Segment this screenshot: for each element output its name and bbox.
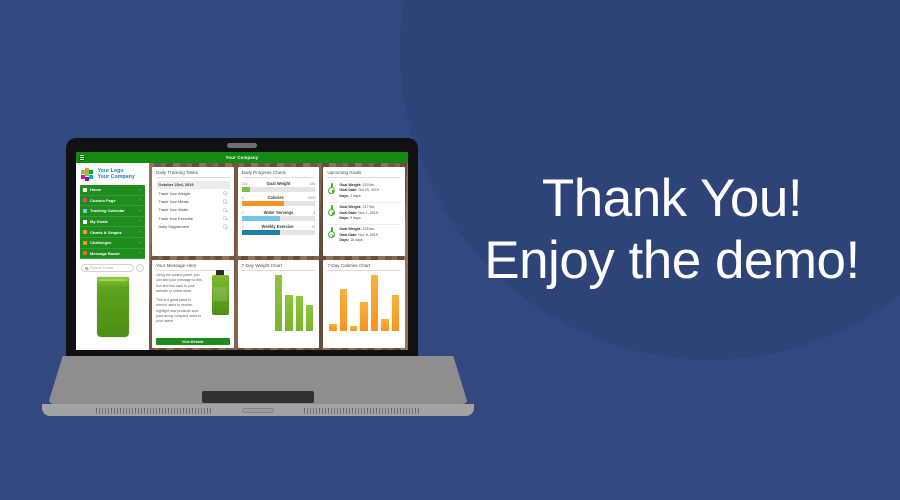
- view-website-button[interactable]: View Website: [156, 338, 230, 345]
- check-circle-icon[interactable]: [223, 216, 227, 220]
- check-circle-icon[interactable]: [223, 208, 227, 212]
- progress-label: Goal Weight: [267, 181, 291, 186]
- progress-fill: [242, 230, 280, 235]
- sidebar-item-charts-graphs[interactable]: Charts & Graphs›: [80, 227, 145, 238]
- card-upcoming-goals: Upcoming Goals Goal Weight: 219 lbs.Goal…: [323, 167, 405, 256]
- progress-max: 180: [310, 182, 316, 186]
- chart-bar: [392, 295, 399, 331]
- message-body: Using the control panel, you can add you…: [156, 273, 202, 325]
- sidebar-item-message-board[interactable]: Message Board›: [80, 249, 145, 260]
- task-label: Daily Supplement: [159, 224, 190, 229]
- sidebar-item-label: Challenges: [90, 240, 137, 245]
- hamburger-icon[interactable]: [79, 155, 85, 161]
- progress-fill: [242, 201, 285, 206]
- goal-weight-value: 219 lbs.: [362, 183, 375, 187]
- goal-days-label: Days:: [339, 216, 349, 220]
- chart-bar: [275, 275, 282, 331]
- calendar-icon: [83, 209, 87, 213]
- green-juice-bottle-image: [212, 275, 229, 315]
- laptop-lid: Your Company: [66, 138, 418, 358]
- card-7-day-weight-chart: 7-Day Weight Chart: [238, 260, 320, 349]
- progress-label: Weekly Exercise: [262, 224, 294, 229]
- logo-mark-icon: [81, 168, 95, 181]
- goal-date-value: Nov 8, 2019: [358, 233, 377, 237]
- dashboard-row-top: Daily Tracking Tasks October 23rd, 2019 …: [152, 167, 405, 256]
- tracking-task-item[interactable]: Track Your Weight: [156, 189, 230, 197]
- lid-release-notch: [242, 408, 274, 413]
- chart-bar: [371, 275, 378, 331]
- check-circle-icon[interactable]: [223, 191, 227, 195]
- card-your-message-here: Your Message Here Using the control pane…: [152, 260, 234, 349]
- progress-item: 224Goal Weight180: [242, 181, 316, 192]
- goal-date-label: Goal Date:: [339, 188, 357, 192]
- tracking-task-item[interactable]: Track Your Meals: [156, 197, 230, 205]
- chart-bar: [306, 305, 313, 331]
- sidebar-item-label: Tracking Calendar: [90, 208, 137, 213]
- task-label: Track Your Weight: [159, 191, 191, 196]
- keyboard: [70, 360, 446, 388]
- progress-max: 67: [312, 225, 316, 229]
- goal-weight-label: Goal Weight:: [339, 227, 361, 231]
- tracking-task-item[interactable]: Daily Supplement: [156, 222, 230, 230]
- promo-line-2: Enjoy the demo!: [452, 230, 892, 292]
- dashboard-content: Daily Tracking Tasks October 23rd, 2019 …: [149, 163, 408, 350]
- card-title: Upcoming Goals: [327, 170, 401, 178]
- progress-max: 8: [313, 211, 315, 215]
- sidebar-item-label: Message Board: [90, 251, 137, 256]
- card-title: Daily Progress Check: [242, 170, 316, 178]
- sidebar-item-label: Custom Page: [90, 198, 137, 203]
- company-logo[interactable]: Your Logo Your Company: [76, 163, 149, 184]
- sidebar-item-label: Home: [90, 187, 137, 192]
- target-icon: [83, 220, 87, 224]
- chevron-right-icon: ›: [140, 209, 142, 214]
- goal-days-value: 2 days: [350, 194, 361, 198]
- goal-item: Goal Weight: 217 lbs.Goal Date: Nov 1, 2…: [327, 203, 401, 225]
- chevron-right-icon: ›: [140, 188, 142, 193]
- sidebar: Your Logo Your Company Home›Custom Page›…: [76, 163, 149, 350]
- green-smoothie-glass-image: [85, 276, 140, 338]
- progress-fill: [242, 187, 250, 192]
- trackpad: [202, 391, 314, 403]
- progress-track: [242, 201, 316, 206]
- card-title: Daily Tracking Tasks: [156, 170, 230, 178]
- tracking-task-item[interactable]: Track Your Exercise: [156, 214, 230, 222]
- tracking-task-list: Track Your WeightTrack Your MealsTrack Y…: [156, 189, 230, 231]
- sidebar-item-label: Charts & Graphs: [90, 230, 137, 235]
- progress-track: [242, 230, 316, 235]
- progress-item: 0Weekly Exercise67: [242, 224, 316, 235]
- search-input[interactable]: Search Foods: [81, 264, 134, 272]
- progress-bar-list: 224Goal Weight1800Calories20000Water Ser…: [242, 181, 316, 236]
- home-icon: [83, 188, 87, 192]
- goal-date-value: Oct 25, 2019: [358, 188, 379, 192]
- chevron-right-icon: ›: [140, 219, 142, 224]
- goal-list: Goal Weight: 219 lbs.Goal Date: Oct 25, …: [327, 181, 401, 247]
- chart-bar: [329, 324, 336, 331]
- logo-line-2: Your Company: [98, 175, 135, 180]
- app-screen: Your Company: [76, 152, 408, 350]
- card-daily-progress-check: Daily Progress Check 224Goal Weight1800C…: [238, 167, 320, 256]
- chart-bar: [350, 326, 357, 331]
- progress-label: Calories: [268, 195, 284, 200]
- goal-days-label: Days:: [339, 238, 349, 242]
- chart-bar: [296, 296, 303, 331]
- speaker-grille-left: [96, 408, 212, 414]
- search-placeholder: Search Foods: [90, 266, 113, 270]
- sidebar-item-challenges[interactable]: Challenges›: [80, 238, 145, 249]
- task-label: Track Your Meals: [159, 199, 189, 204]
- dashboard-row-bottom: Your Message Here Using the control pane…: [152, 260, 405, 349]
- promo-line-1: Thank You!: [452, 168, 892, 230]
- goal-weight-value: 217 lbs.: [362, 205, 375, 209]
- check-circle-icon[interactable]: [223, 199, 227, 203]
- goal-medal-icon: [327, 227, 336, 238]
- card-title: 7-Day Calories Chart: [327, 263, 401, 271]
- tracking-date-label: October 23rd, 2019: [159, 182, 194, 187]
- progress-min: 224: [242, 182, 248, 186]
- progress-track: [242, 216, 316, 221]
- sidebar-item-my-goals[interactable]: My Goals›: [80, 217, 145, 228]
- progress-item: 0Water Servings8: [242, 210, 316, 221]
- progress-label: Water Servings: [264, 210, 294, 215]
- search-icon: [85, 267, 88, 270]
- goal-weight-value: 215 lbs.: [362, 227, 375, 231]
- goal-days-value: 16 days: [350, 238, 363, 242]
- filter-icon[interactable]: [136, 264, 144, 272]
- goal-date-value: Nov 1, 2019: [358, 211, 377, 215]
- app-title: Your Company: [76, 155, 408, 160]
- weight-chart: [242, 273, 316, 331]
- chart-bar: [285, 295, 292, 331]
- message-paragraph-1: Using the control panel, you can add you…: [156, 273, 202, 295]
- card-daily-tracking-tasks: Daily Tracking Tasks October 23rd, 2019 …: [152, 167, 234, 256]
- chart-bar: [381, 319, 388, 331]
- tracking-date: October 23rd, 2019: [156, 181, 230, 189]
- check-circle-icon[interactable]: [223, 224, 227, 228]
- trophy-icon: [83, 241, 87, 245]
- goal-days-label: Days:: [339, 194, 349, 198]
- goal-medal-icon: [327, 205, 336, 216]
- food-search: Search Foods: [81, 264, 144, 272]
- progress-min: 0: [242, 225, 244, 229]
- app-body: Your Logo Your Company Home›Custom Page›…: [76, 163, 408, 350]
- progress-min: 0: [242, 196, 244, 200]
- chart-bar: [360, 302, 367, 331]
- sidebar-item-tracking-calendar[interactable]: Tracking Calendar›: [80, 206, 145, 217]
- speaker-grille-right: [304, 408, 420, 414]
- tracking-task-item[interactable]: Track Your Water: [156, 206, 230, 214]
- message-icon: [83, 251, 87, 255]
- chevron-right-icon: ›: [140, 230, 142, 235]
- progress-fill: [242, 216, 280, 221]
- calories-chart: [327, 273, 401, 331]
- webcam-bar: [227, 143, 257, 148]
- promo-message: Thank You! Enjoy the demo!: [452, 168, 892, 292]
- sidebar-nav: Home›Custom Page›Tracking Calendar›My Go…: [80, 185, 145, 259]
- goal-date-label: Goal Date:: [339, 233, 357, 237]
- chevron-right-icon: ›: [140, 251, 142, 256]
- card-title: 7-Day Weight Chart: [242, 263, 316, 271]
- task-label: Track Your Water: [159, 207, 189, 212]
- laptop-illustration: Your Company: [48, 138, 468, 438]
- chevron-right-icon: ›: [140, 241, 142, 246]
- progress-max: 2000: [308, 196, 316, 200]
- app-topbar: Your Company: [76, 152, 408, 163]
- progress-track: [242, 187, 316, 192]
- progress-item: 0Calories2000: [242, 195, 316, 206]
- chevron-right-icon: ›: [140, 198, 142, 203]
- message-paragraph-2: This is a great place to remind users to…: [156, 298, 202, 325]
- goal-weight-label: Goal Weight:: [339, 183, 361, 187]
- goal-days-value: 9 days: [350, 216, 361, 220]
- sidebar-item-label: My Goals: [90, 219, 137, 224]
- goal-weight-label: Goal Weight:: [339, 205, 361, 209]
- sidebar-item-home[interactable]: Home›: [80, 185, 145, 196]
- card-7-day-calories-chart: 7-Day Calories Chart: [323, 260, 405, 349]
- progress-min: 0: [242, 211, 244, 215]
- sidebar-item-custom-page[interactable]: Custom Page›: [80, 196, 145, 207]
- goal-medal-icon: [327, 183, 336, 194]
- goal-date-label: Goal Date:: [339, 211, 357, 215]
- chart-bar: [340, 289, 347, 331]
- chart-icon: [83, 230, 87, 234]
- task-label: Track Your Exercise: [159, 216, 193, 221]
- goal-item: Goal Weight: 215 lbs.Goal Date: Nov 8, 2…: [327, 225, 401, 246]
- goal-item: Goal Weight: 219 lbs.Goal Date: Oct 25, …: [327, 181, 401, 203]
- page-icon: [83, 198, 87, 202]
